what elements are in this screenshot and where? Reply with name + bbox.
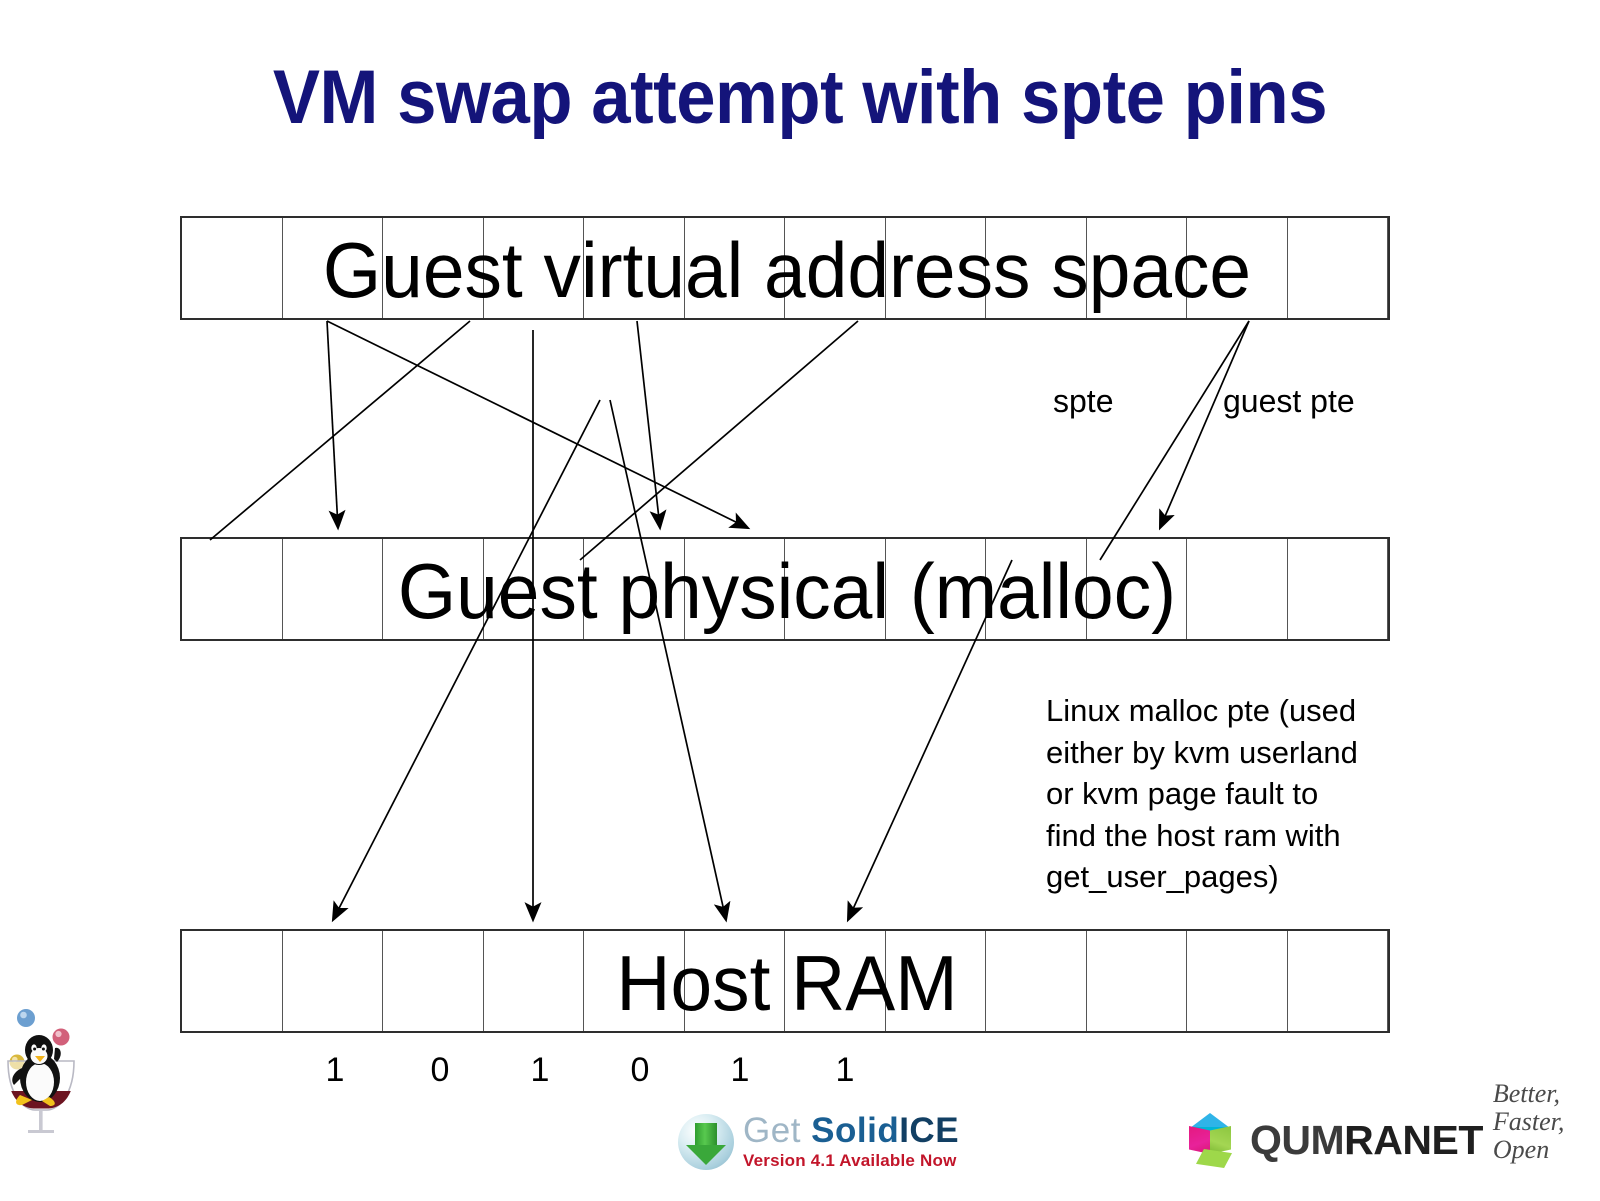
mapping-arrow	[1100, 321, 1249, 560]
memory-cell	[886, 218, 987, 318]
qumranet-name-light: QUM	[1250, 1117, 1344, 1163]
memory-cell	[785, 539, 886, 639]
mapping-arrow	[580, 321, 858, 560]
memory-cell	[283, 539, 384, 639]
memory-cell	[685, 539, 786, 639]
label-spte: spte	[1053, 383, 1113, 420]
qumranet-wordmark: QUMRANET	[1250, 1120, 1483, 1161]
note-line: get_user_pages)	[1046, 856, 1426, 898]
page-title: VM swap attempt with spte pins	[56, 52, 1544, 144]
solidice-version: Version 4.1 Available Now	[743, 1151, 959, 1171]
memory-cell	[1187, 931, 1288, 1031]
memory-cell	[886, 931, 987, 1031]
memory-row-host-ram: Host RAM	[180, 929, 1390, 1033]
memory-cell	[1187, 539, 1288, 639]
memory-cell	[484, 931, 585, 1031]
solidice-text: Get SolidICE Version 4.1 Available Now	[743, 1113, 959, 1171]
memory-cell	[1087, 931, 1188, 1031]
memory-cell	[283, 931, 384, 1031]
host-ram-bit: 1	[510, 1053, 570, 1087]
memory-cell	[584, 218, 685, 318]
memory-cell	[383, 539, 484, 639]
memory-cell	[685, 931, 786, 1031]
memory-cell	[182, 931, 283, 1031]
note-linux-malloc-pte: Linux malloc pte (used either by kvm use…	[1046, 690, 1426, 898]
host-ram-bit: 0	[610, 1053, 670, 1087]
get-solidice-logo[interactable]: Get SolidICE Version 4.1 Available Now	[678, 1107, 959, 1177]
host-ram-bit: 1	[815, 1053, 875, 1087]
memory-cell	[1288, 931, 1389, 1031]
memory-cell	[484, 539, 585, 639]
mapping-arrow	[327, 321, 338, 528]
mapping-arrow	[333, 400, 600, 920]
memory-cell	[182, 218, 283, 318]
qumranet-cube-icon	[1184, 1111, 1240, 1169]
memory-cell	[584, 539, 685, 639]
memory-cell	[383, 931, 484, 1031]
solidice-get: Get	[743, 1111, 811, 1150]
slide-canvas: VM swap attempt with spte pins Guest vir…	[0, 0, 1600, 1201]
memory-cell	[986, 539, 1087, 639]
host-ram-bit: 1	[305, 1053, 365, 1087]
note-line: or kvm page fault to	[1046, 773, 1426, 815]
memory-cell	[785, 931, 886, 1031]
memory-cell	[1087, 218, 1188, 318]
host-ram-bit-row: 1 0 1 0 1 1	[180, 1053, 1390, 1093]
qumranet-logo: QUMRANET Better, Faster, Open	[1184, 1104, 1600, 1176]
memory-cell	[986, 931, 1087, 1031]
memory-cell	[584, 931, 685, 1031]
label-guest-pte: guest pte	[1223, 383, 1355, 420]
memory-cell	[283, 218, 384, 318]
memory-row-guest-physical: Guest physical (malloc)	[180, 537, 1390, 641]
download-arrow-icon	[678, 1114, 734, 1170]
solidice-wordmark: Get SolidICE	[743, 1113, 959, 1149]
memory-cell	[1187, 218, 1288, 318]
mapping-arrow	[210, 321, 470, 540]
memory-cell	[986, 218, 1087, 318]
qumranet-tagline: Better, Faster, Open	[1493, 1080, 1600, 1164]
mapping-arrow	[637, 321, 660, 528]
mapping-arrow	[1160, 321, 1249, 528]
memory-cell	[1087, 539, 1188, 639]
tux-penguin-icon	[2, 958, 102, 1133]
mapping-arrow	[610, 400, 726, 920]
memory-cell	[886, 539, 987, 639]
memory-cell	[182, 539, 283, 639]
host-ram-bit: 0	[410, 1053, 470, 1087]
memory-cell	[1288, 218, 1389, 318]
memory-row-guest-virtual: Guest virtual address space	[180, 216, 1390, 320]
note-line: Linux malloc pte (used	[1046, 690, 1426, 732]
memory-cell	[785, 218, 886, 318]
memory-cell	[383, 218, 484, 318]
memory-cell	[1288, 539, 1389, 639]
host-ram-bit: 1	[710, 1053, 770, 1087]
solidice-solid: Solid	[811, 1111, 899, 1150]
memory-cell	[484, 218, 585, 318]
mapping-arrow	[327, 321, 748, 528]
solidice-ice: ICE	[899, 1111, 959, 1150]
note-line: find the host ram with	[1046, 815, 1426, 857]
memory-cell	[685, 218, 786, 318]
qumranet-name-dark: RANET	[1344, 1117, 1483, 1163]
note-line: either by kvm userland	[1046, 732, 1426, 774]
